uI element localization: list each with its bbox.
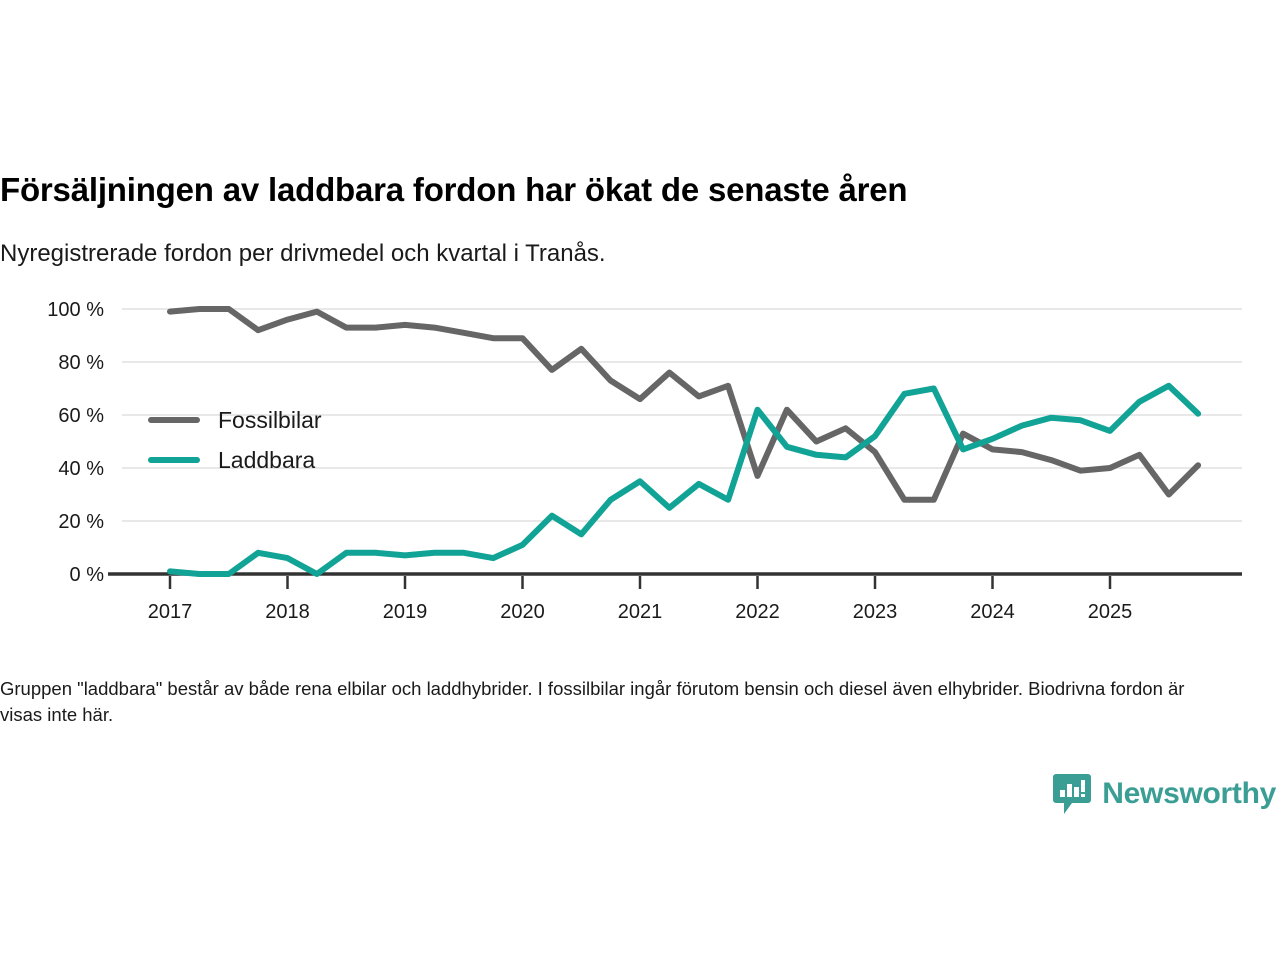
chart-legend: Fossilbilar Laddbara [148, 400, 408, 480]
x-tick-label: 2025 [1088, 601, 1133, 623]
x-tick-label: 2021 [618, 601, 663, 623]
y-tick-label: 80 % [58, 352, 104, 374]
page-title: Försäljningen av laddbara fordon har öka… [0, 170, 1260, 210]
x-tick-label: 2017 [148, 601, 193, 623]
x-tick-label: 2018 [265, 601, 310, 623]
legend-swatch-fossilbilar [148, 417, 200, 423]
legend-label-laddbara: Laddbara [218, 449, 315, 472]
chart-page: Försäljningen av laddbara fordon har öka… [0, 0, 1280, 960]
y-tick-label: 20 % [58, 511, 104, 533]
x-axis-ticks-group [170, 576, 1110, 589]
legend-item-laddbara[interactable]: Laddbara [148, 440, 408, 480]
legend-swatch-laddbara [148, 457, 200, 463]
x-tick-label: 2023 [853, 601, 898, 623]
legend-item-fossilbilar[interactable]: Fossilbilar [148, 400, 408, 440]
y-axis-labels-group: 0 %20 %40 %60 %80 %100 % [47, 299, 104, 586]
logo-text: Newsworthy [1102, 779, 1276, 809]
newsworthy-logo[interactable]: Newsworthy [1052, 772, 1276, 816]
x-tick-label: 2022 [735, 601, 780, 623]
y-tick-label: 60 % [58, 405, 104, 427]
x-tick-label: 2024 [970, 601, 1015, 623]
chart-subtitle: Nyregistrerade fordon per drivmedel och … [0, 240, 1260, 269]
y-tick-label: 100 % [47, 299, 104, 321]
chart-footnote: Gruppen "laddbara" består av både rena e… [0, 676, 1215, 727]
x-tick-label: 2019 [383, 601, 428, 623]
bar-chart-speech-bubble-icon [1052, 772, 1092, 816]
x-tick-label: 2020 [500, 601, 545, 623]
legend-label-fossilbilar: Fossilbilar [218, 409, 322, 432]
x-axis-labels-group: 201720182019202020212022202320242025 [148, 601, 1133, 623]
y-tick-label: 40 % [58, 458, 104, 480]
y-tick-label: 0 % [70, 564, 105, 586]
